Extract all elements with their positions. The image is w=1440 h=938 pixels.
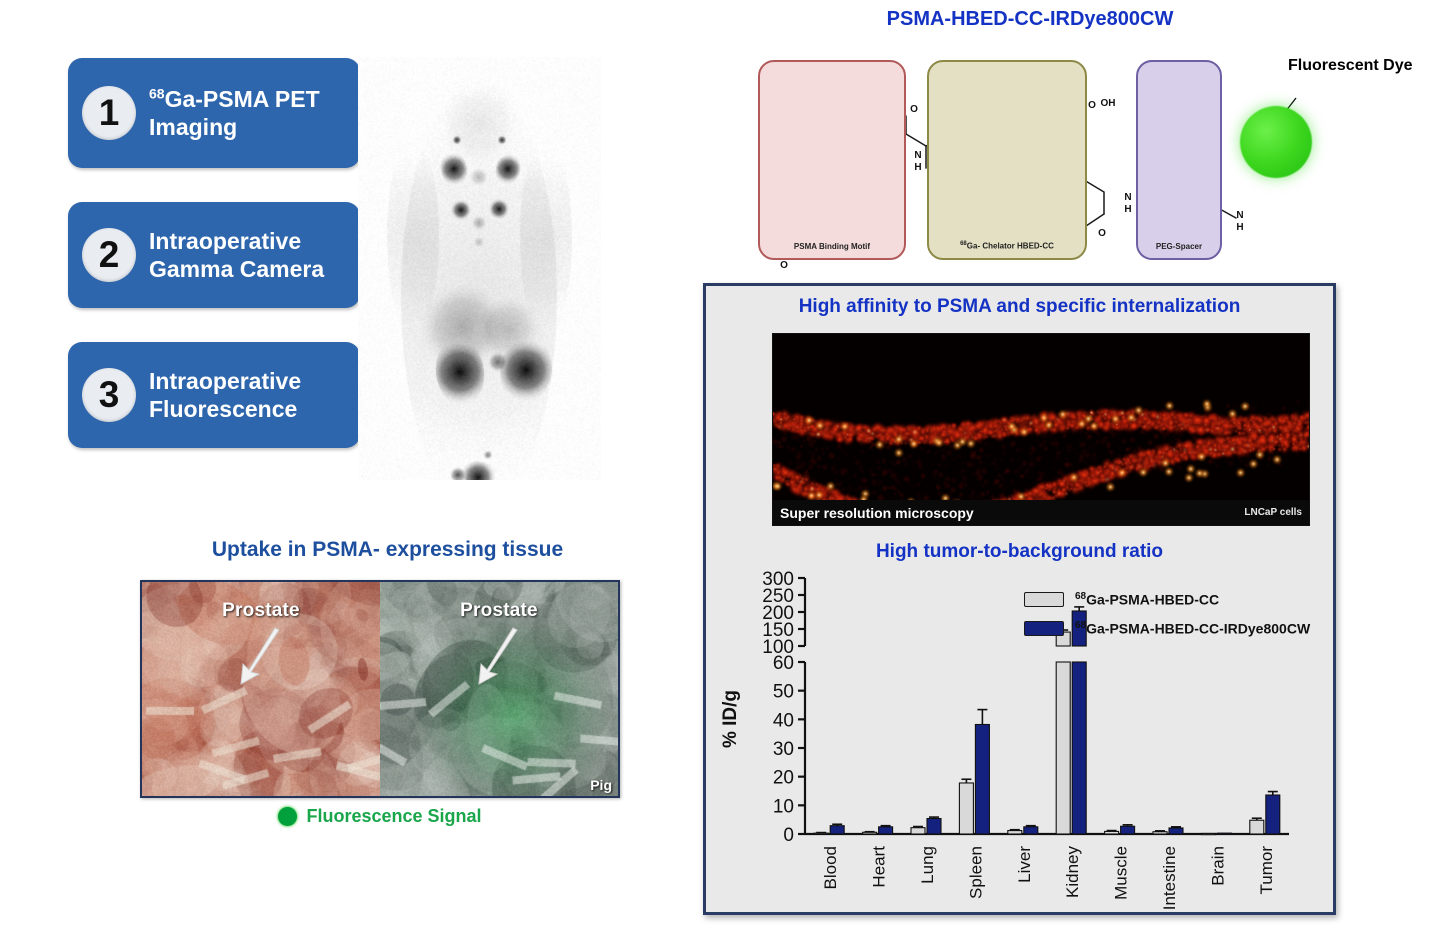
svg-text:Lung: Lung: [918, 846, 937, 884]
step-1-text: Ga-PSMA PET Imaging: [149, 86, 320, 140]
svg-text:N: N: [1124, 192, 1131, 203]
module-peg-spacer: PEG-Spacer: [1136, 60, 1222, 260]
fluorescence-legend-label: Fluorescence Signal: [306, 806, 481, 827]
step-number-badge: 2: [82, 228, 136, 282]
svg-text:20: 20: [773, 768, 794, 789]
workflow-steps-list: 1 68Ga-PSMA PET Imaging 2 Intraoperative…: [68, 58, 360, 482]
svg-text:H: H: [1236, 222, 1243, 233]
svg-text:30: 30: [773, 739, 794, 760]
svg-text:Liver: Liver: [1015, 846, 1034, 883]
molecule-title: PSMA-HBED-CC-IRDye800CW: [700, 8, 1360, 31]
pointer-arrow-icon: [469, 626, 529, 688]
workflow-step-1: 1 68Ga-PSMA PET Imaging: [68, 58, 360, 168]
legend-1-superscript: 68: [1075, 591, 1086, 602]
step-1-label: 68Ga-PSMA PET Imaging: [149, 85, 346, 141]
svg-text:Muscle: Muscle: [1112, 846, 1131, 900]
tbr-section-title: High tumor-to-background ratio: [706, 541, 1333, 563]
prostate-label-right: Prostate: [380, 600, 618, 622]
step-number-badge: 3: [82, 368, 136, 422]
svg-text:O: O: [1088, 100, 1096, 111]
pet-scan-image: [358, 57, 601, 480]
svg-text:N: N: [1236, 210, 1243, 221]
workflow-step-3: 3 Intraoperative Fluorescence: [68, 342, 360, 448]
molecule-structure-diagram: O OH HN HN O HO O OH O O N H O OH N N HO…: [740, 50, 1430, 275]
microscopy-cell-line: LNCaP cells: [1244, 507, 1302, 518]
module-ga-chelator: 68Ga- Chelator HBED-CC: [927, 60, 1087, 260]
microscopy-canvas: [773, 334, 1309, 525]
intraoperative-image-pair: Prostate Prostate Pig: [140, 580, 620, 798]
legend-label-2: 68Ga-PSMA-HBED-CC-IRDye800CW: [1075, 620, 1310, 637]
workflow-step-2: 2 Intraoperative Gamma Camera: [68, 202, 360, 308]
pet-scan-canvas: [358, 57, 601, 480]
module-chelator-superscript: 68: [960, 241, 967, 247]
svg-text:N: N: [914, 150, 921, 161]
legend-entry-hbed-cc: 68Ga-PSMA-HBED-CC: [1024, 591, 1219, 608]
fluorescent-dye-label: Fluorescent Dye: [1288, 56, 1418, 75]
svg-text:Spleen: Spleen: [966, 846, 985, 899]
white-light-image: Prostate: [142, 582, 380, 796]
step-number-badge: 1: [82, 86, 136, 140]
legend-2-text: Ga-PSMA-HBED-CC-IRDye800CW: [1086, 621, 1310, 637]
legend-2-superscript: 68: [1075, 620, 1086, 631]
microscopy-caption: Super resolution microscopy: [780, 505, 974, 521]
svg-text:O: O: [780, 260, 788, 271]
svg-text:H: H: [914, 162, 921, 173]
svg-text:O: O: [1098, 228, 1106, 239]
svg-text:O: O: [910, 104, 918, 115]
legend-label-1: 68Ga-PSMA-HBED-CC: [1075, 591, 1219, 608]
svg-text:Blood: Blood: [821, 846, 840, 889]
affinity-section-title: High affinity to PSMA and specific inter…: [706, 296, 1333, 318]
legend-entry-irdye: 68Ga-PSMA-HBED-CC-IRDye800CW: [1024, 620, 1310, 637]
chart-y-axis-label: % ID/g: [720, 664, 742, 774]
step-3-label: Intraoperative Fluorescence: [149, 367, 346, 423]
svg-text:10: 10: [773, 796, 794, 817]
pointer-arrow-icon: [231, 626, 291, 688]
module-psma-label: PSMA Binding Motif: [760, 242, 904, 251]
green-dot-icon: [278, 807, 297, 826]
fluorescence-signal-legend: Fluorescence Signal: [140, 806, 620, 827]
fluorescence-image: Prostate Pig: [380, 582, 618, 796]
results-panel: High affinity to PSMA and specific inter…: [703, 283, 1336, 915]
legend-swatch-white: [1024, 592, 1064, 607]
svg-text:Tumor: Tumor: [1257, 846, 1276, 895]
svg-text:Intestine: Intestine: [1160, 846, 1179, 910]
biodistribution-bar-chart: % ID/g 68Ga-PSMA-HBED-CC 68Ga-PSMA-HBED-…: [706, 568, 1339, 916]
prostate-label-left: Prostate: [142, 600, 380, 622]
species-tag: Pig: [590, 777, 612, 793]
svg-text:H: H: [1124, 204, 1131, 215]
svg-text:Brain: Brain: [1208, 846, 1227, 886]
svg-text:Heart: Heart: [870, 846, 889, 888]
step-1-superscript: 68: [149, 85, 165, 101]
microscopy-caption-bar: Super resolution microscopy LNCaP cells: [773, 500, 1309, 525]
svg-text:50: 50: [773, 682, 794, 703]
svg-text:Kidney: Kidney: [1063, 846, 1082, 898]
step-2-label: Intraoperative Gamma Camera: [149, 227, 346, 283]
fluorescent-dye-icon: [1240, 106, 1312, 178]
svg-text:300: 300: [762, 569, 794, 590]
legend-swatch-blue: [1024, 621, 1064, 636]
svg-text:OH: OH: [1101, 98, 1116, 109]
uptake-section-title: Uptake in PSMA- expressing tissue: [140, 538, 635, 562]
module-peg-label: PEG-Spacer: [1138, 242, 1220, 251]
module-chelator-text: Ga- Chelator HBED-CC: [967, 242, 1054, 251]
microscopy-image: Super resolution microscopy LNCaP cells: [772, 333, 1310, 526]
module-chelator-label: 68Ga- Chelator HBED-CC: [929, 241, 1085, 251]
svg-text:40: 40: [773, 710, 794, 731]
legend-1-text: Ga-PSMA-HBED-CC: [1086, 592, 1219, 608]
svg-text:0: 0: [783, 825, 794, 846]
module-psma-binding-motif: PSMA Binding Motif: [758, 60, 906, 260]
